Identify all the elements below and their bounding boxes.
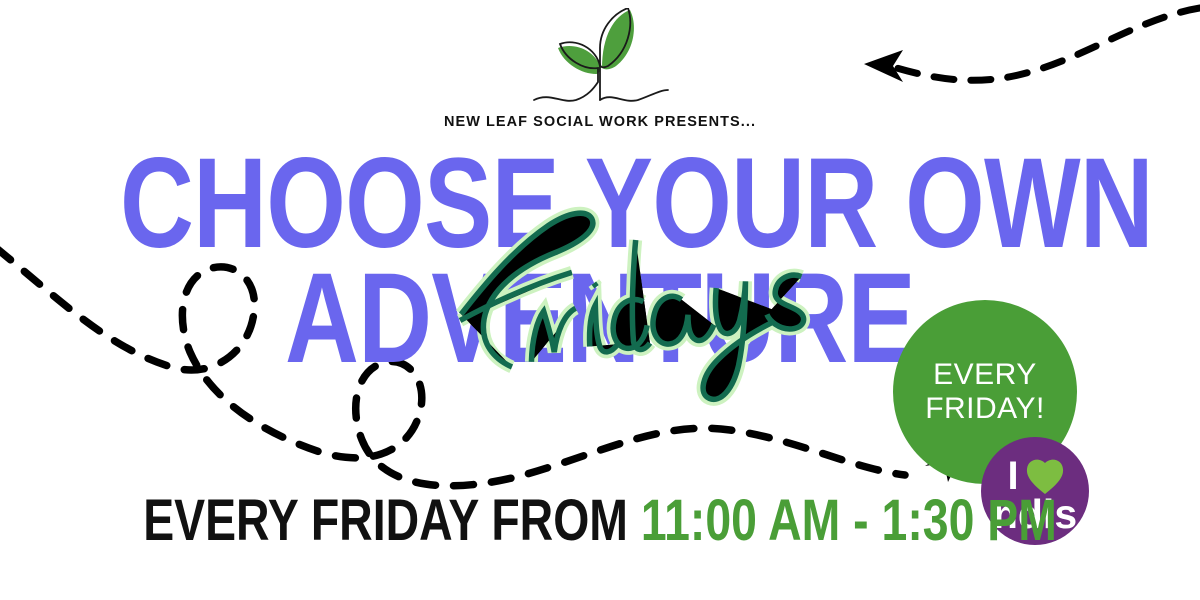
presenter-text: NEW LEAF SOCIAL WORK PRESENTS... bbox=[0, 114, 1200, 130]
schedule-time: 11:00 AM - 1:30 PM bbox=[641, 488, 1057, 553]
badge-line-1: EVERY bbox=[933, 358, 1037, 392]
sprout-seedling-icon bbox=[510, 8, 690, 110]
badge-line-2: FRIDAY! bbox=[925, 392, 1045, 426]
schedule-line: EVERY FRIDAY FROM 11:00 AM - 1:30 PM bbox=[0, 487, 1200, 554]
event-banner: NEW LEAF SOCIAL WORK PRESENTS... CHOOSE … bbox=[0, 0, 1200, 600]
schedule-prefix: EVERY FRIDAY FROM bbox=[143, 488, 641, 553]
logo-block: NEW LEAF SOCIAL WORK PRESENTS... bbox=[0, 8, 1200, 130]
schedule-text: EVERY FRIDAY FROM 11:00 AM - 1:30 PM bbox=[143, 487, 1057, 554]
title-line-1: CHOOSE YOUR OWN bbox=[120, 148, 1080, 261]
